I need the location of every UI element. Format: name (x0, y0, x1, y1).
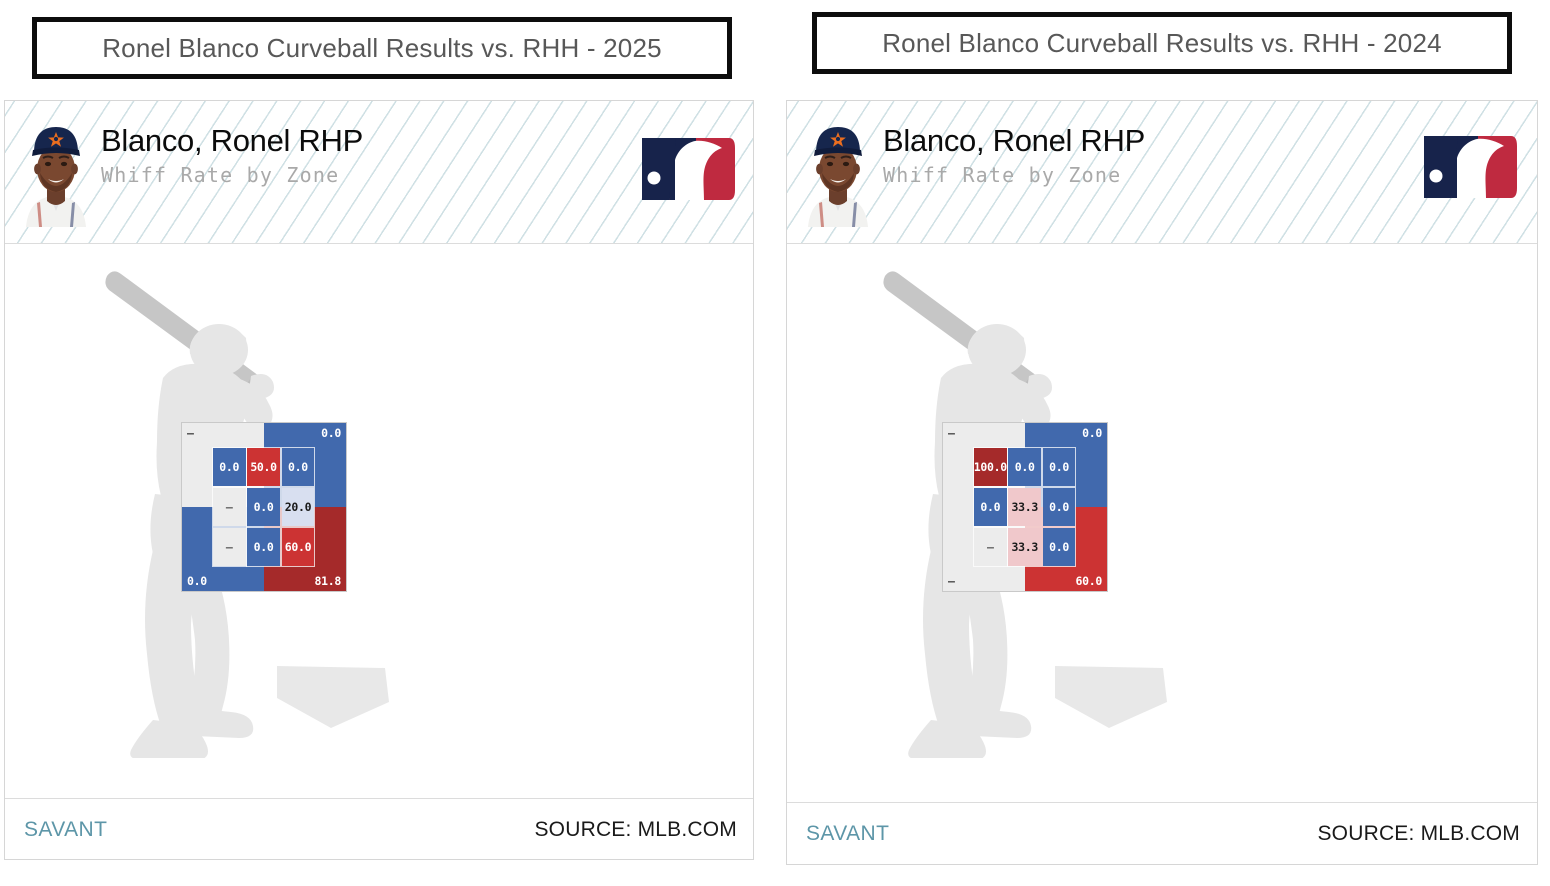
card-header: Blanco, Ronel RHP Whiff Rate by Zone (787, 101, 1537, 244)
card-body: – 0.0 0.0 81.8 0.0 50 (5, 244, 753, 798)
zone-9[interactable]: 60.0 (282, 528, 315, 567)
zone-1-value: 0.0 (219, 460, 239, 474)
savant-card: Blanco, Ronel RHP Whiff Rate by Zone (4, 100, 754, 860)
page-title: Ronel Blanco Curveball Results vs. RHH -… (102, 33, 662, 64)
zone-2-value: 0.0 (1015, 460, 1035, 474)
card-footer: SAVANT SOURCE: MLB.COM (787, 802, 1537, 864)
zone-6[interactable]: 20.0 (282, 488, 315, 527)
title-wrapper: Ronel Blanco Curveball Results vs. RHH -… (775, 0, 1550, 95)
player-name: Blanco, Ronel RHP (101, 125, 363, 158)
source-label: SOURCE: MLB.COM (1317, 822, 1520, 846)
zone-5-value: 0.0 (254, 500, 274, 514)
inner-strike-zones: 100.0 0.0 0.0 0.0 33.3 0.0 – 33.3 0.0 (973, 447, 1077, 568)
zone-2[interactable]: 0.0 (1008, 448, 1041, 487)
player-name: Blanco, Ronel RHP (883, 125, 1145, 158)
savant-brand[interactable]: SAVANT (24, 818, 107, 842)
player-headshot-icon (806, 117, 870, 227)
outer-zone-12-value: 0.0 (321, 426, 341, 440)
zone-6[interactable]: 0.0 (1043, 488, 1076, 527)
zone-heatmap: – 0.0 0.0 81.8 0.0 50 (181, 422, 347, 592)
mlb-logo-icon (1416, 132, 1519, 202)
inner-strike-zones: 0.0 50.0 0.0 – 0.0 20.0 – 0.0 60.0 (212, 447, 316, 568)
source-label: SOURCE: MLB.COM (534, 818, 737, 842)
metric-label: Whiff Rate by Zone (101, 163, 363, 187)
zone-4-value: 0.0 (980, 500, 1000, 514)
mlb-logo-icon (634, 134, 737, 204)
zone-7[interactable]: – (213, 528, 246, 567)
zone-1-value: 100.0 (974, 460, 1007, 474)
zone-7[interactable]: – (974, 528, 1007, 567)
panel-2025: Ronel Blanco Curveball Results vs. RHH -… (0, 0, 775, 886)
savant-zone-comparison: Ronel Blanco Curveball Results vs. RHH -… (0, 0, 1550, 886)
player-name-block: Blanco, Ronel RHP Whiff Rate by Zone (883, 125, 1145, 187)
zone-6-value: 20.0 (285, 500, 312, 514)
panel-2024: Ronel Blanco Curveball Results vs. RHH -… (775, 0, 1550, 886)
zone-2[interactable]: 50.0 (247, 448, 280, 487)
card-footer: SAVANT SOURCE: MLB.COM (5, 798, 753, 860)
card-body: – 0.0 – 60.0 100.0 0. (787, 244, 1537, 802)
outer-zone-14-value: 60.0 (1076, 574, 1103, 588)
zone-7-value: – (987, 540, 994, 554)
zone-8[interactable]: 0.0 (247, 528, 280, 567)
zone-3[interactable]: 0.0 (1043, 448, 1076, 487)
zone-7-value: – (226, 540, 233, 554)
savant-brand[interactable]: SAVANT (806, 822, 889, 846)
outer-zone-14-value: 81.8 (315, 574, 342, 588)
chart-title-box: Ronel Blanco Curveball Results vs. RHH -… (812, 12, 1512, 74)
metric-label: Whiff Rate by Zone (883, 163, 1145, 187)
outer-zone-11-value: – (187, 426, 194, 440)
zone-1[interactable]: 0.0 (213, 448, 246, 487)
savant-card: Blanco, Ronel RHP Whiff Rate by Zone (786, 100, 1538, 865)
zone-4[interactable]: – (213, 488, 246, 527)
zone-5[interactable]: 33.3 (1008, 488, 1041, 527)
zone-4-value: – (226, 500, 233, 514)
zone-3[interactable]: 0.0 (282, 448, 315, 487)
title-wrapper: Ronel Blanco Curveball Results vs. RHH -… (0, 0, 775, 95)
zone-9[interactable]: 0.0 (1043, 528, 1076, 567)
zone-9-value: 0.0 (1049, 540, 1069, 554)
zone-8-value: 33.3 (1011, 540, 1038, 554)
outer-zone-13-value: – (948, 574, 955, 588)
card-header: Blanco, Ronel RHP Whiff Rate by Zone (5, 101, 753, 244)
zone-2-value: 50.0 (250, 460, 277, 474)
zone-5[interactable]: 0.0 (247, 488, 280, 527)
zone-3-value: 0.0 (1049, 460, 1069, 474)
zone-4[interactable]: 0.0 (974, 488, 1007, 527)
zone-8[interactable]: 33.3 (1008, 528, 1041, 567)
outer-zone-12-value: 0.0 (1082, 426, 1102, 440)
zone-6-value: 0.0 (1049, 500, 1069, 514)
outer-zone-11-value: – (948, 426, 955, 440)
page-title: Ronel Blanco Curveball Results vs. RHH -… (882, 28, 1442, 59)
chart-title-box: Ronel Blanco Curveball Results vs. RHH -… (32, 17, 732, 79)
zone-1[interactable]: 100.0 (974, 448, 1007, 487)
zone-9-value: 60.0 (285, 540, 312, 554)
player-name-block: Blanco, Ronel RHP Whiff Rate by Zone (101, 125, 363, 187)
player-headshot-icon (24, 117, 88, 227)
zone-8-value: 0.0 (254, 540, 274, 554)
outer-zone-13-value: 0.0 (187, 574, 207, 588)
zone-3-value: 0.0 (288, 460, 308, 474)
zone-5-value: 33.3 (1011, 500, 1038, 514)
zone-heatmap: – 0.0 – 60.0 100.0 0. (942, 422, 1108, 592)
